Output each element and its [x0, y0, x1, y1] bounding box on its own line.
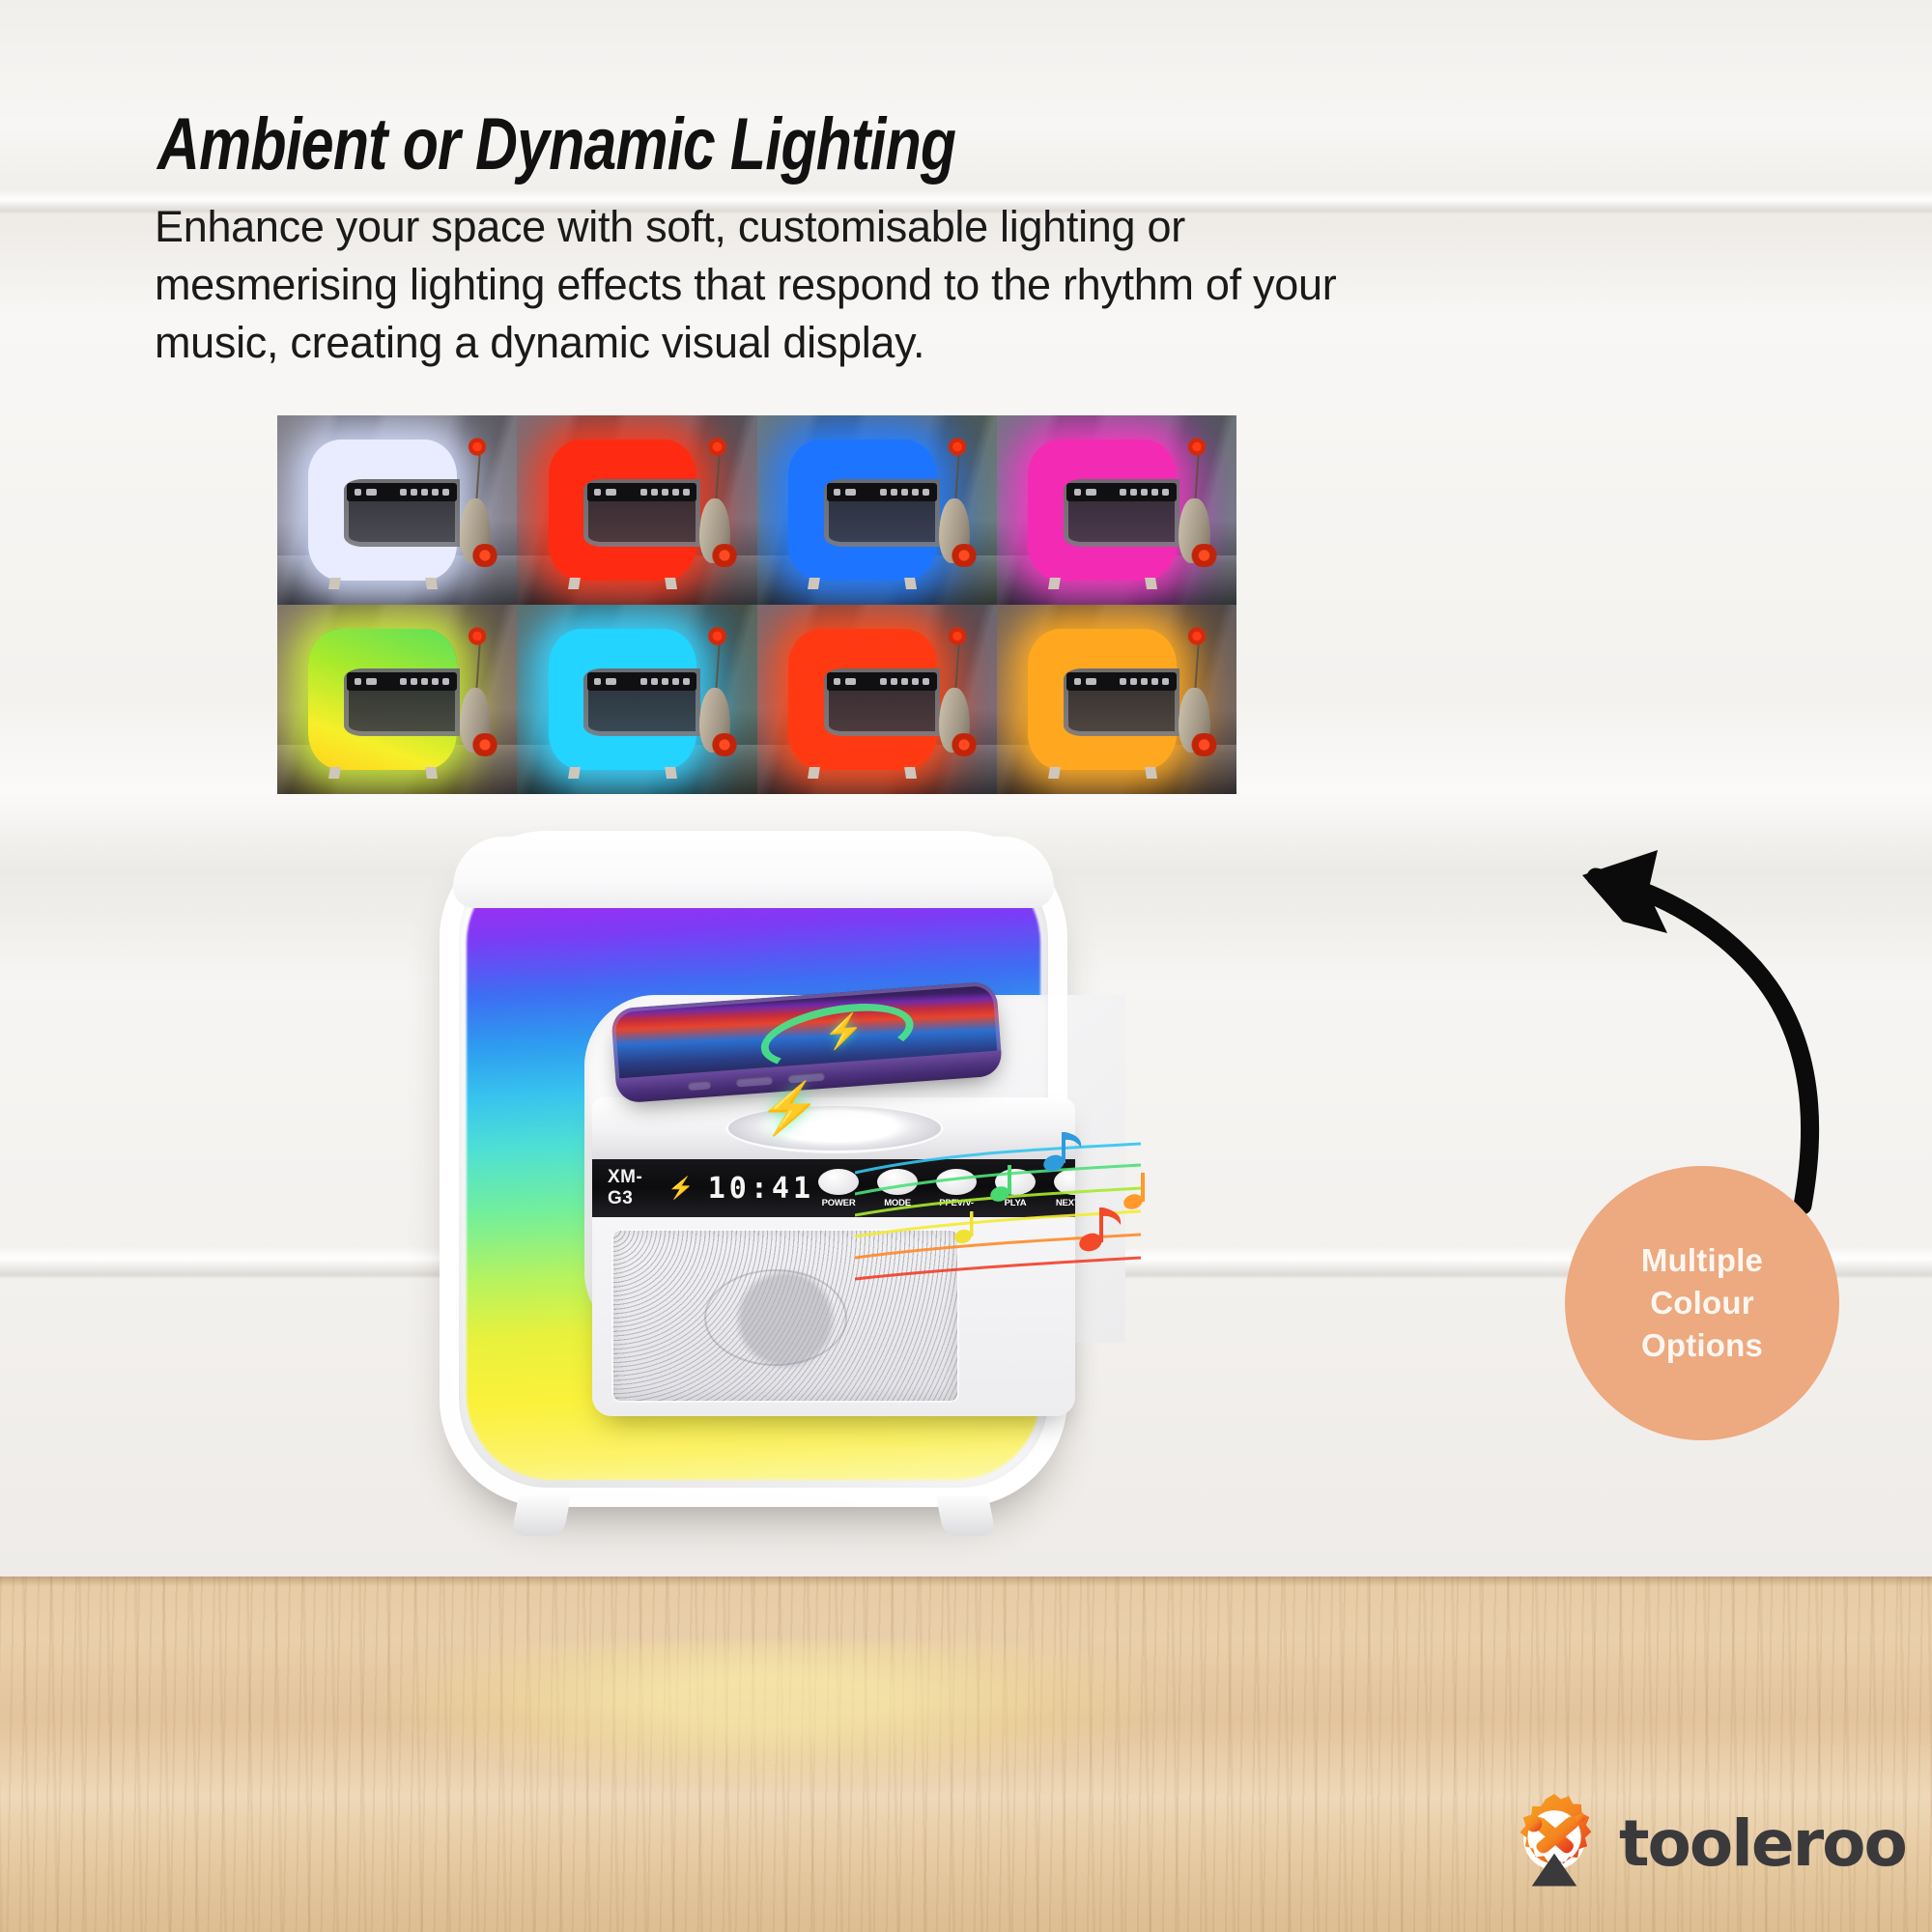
thumb-control-strip	[347, 483, 457, 501]
music-notes-visualization	[855, 1121, 1145, 1314]
thumbnail-row1-col3	[757, 415, 997, 605]
thumbnail-row2-col3	[757, 605, 997, 794]
badge-line-1: Multiple	[1641, 1239, 1763, 1282]
thumbnail-row2-col1	[277, 605, 517, 794]
curved-arrow-icon	[1478, 715, 1893, 1217]
lamp-glow-on-table	[367, 1642, 1179, 1787]
product-photo-g-shaped-rgb-lamp-speaker: XM-G3 ⚡ 10:41 POWER MODE PPEV/V-	[440, 831, 1067, 1546]
charging-bolt-icon: ⚡	[822, 1014, 866, 1050]
thumbnail-row2-col2	[517, 605, 756, 794]
thumbnail-row1-col2	[517, 415, 756, 605]
lightning-bolt-icon: ⚡	[668, 1178, 694, 1199]
led-clock-display: 10:41	[708, 1172, 814, 1206]
brand-label: XM-G3	[608, 1167, 642, 1209]
page-title: Ambient or Dynamic Lighting	[157, 108, 1239, 182]
page-subtitle: Enhance your space with soft, customisab…	[155, 198, 1420, 372]
lamp-leg-left	[511, 1495, 571, 1536]
tooleroo-logo: tooleroo	[1503, 1785, 1889, 1901]
power-button-label: POWER	[822, 1198, 856, 1208]
lamp-leg-right	[936, 1495, 996, 1536]
wireless-charge-bolt-icon: ⚡	[758, 1084, 821, 1134]
gear-with-crossed-tools-icon	[1503, 1792, 1605, 1894]
power-button-cap[interactable]	[818, 1169, 859, 1195]
thumbnail-row1-col4	[997, 415, 1236, 605]
badge-line-3: Options	[1641, 1324, 1763, 1367]
thumbnail-row2-col4	[997, 605, 1236, 794]
colour-options-thumbnail-grid	[277, 415, 1236, 794]
status-badge: Multiple Colour Options	[1565, 1166, 1839, 1440]
logo-wordmark: tooleroo	[1619, 1806, 1906, 1881]
thumbnail-row1-col1	[277, 415, 517, 605]
badge-line-2: Colour	[1650, 1282, 1754, 1324]
